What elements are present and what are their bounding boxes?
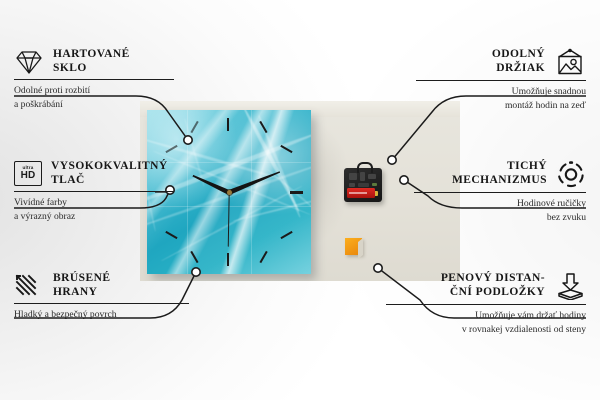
feature-title-group: BRÚSENÉ HRANY: [53, 272, 110, 299]
battery: [347, 188, 375, 198]
feature-title-group: TICHÝ MECHANIZMUS: [452, 160, 547, 187]
ultra-hd-icon: ultra HD: [14, 161, 42, 186]
ultra-hd-large-label: HD: [21, 171, 36, 181]
feature-header: ultra HD VYSOKOKVALITNÝ TLAČ: [14, 160, 174, 187]
feature-title-line2: SKLO: [53, 62, 130, 76]
brushed-edges-icon: [14, 273, 44, 299]
foam-spacer-pad: [345, 238, 362, 255]
feature-tempered-glass: HARTOVANÉ SKLO Odolné proti rozbití a po…: [14, 48, 174, 111]
feature-title-group: PENOVÝ DISTAN- ČNÍ PODLOŽKY: [441, 272, 545, 299]
feature-title-group: HARTOVANÉ SKLO: [53, 48, 130, 75]
feature-desc-line1: Hodinové ručičky: [414, 197, 586, 211]
feature-brushed-edges: BRÚSENÉ HRANY Hladký a bezpečný povrch: [14, 272, 189, 322]
feature-title-line2: HRANY: [53, 286, 110, 300]
clock-center-pin: [227, 190, 232, 195]
feature-title-line2: DRŽIAK: [492, 62, 545, 76]
feature-divider: [14, 79, 174, 80]
feature-desc-line2: a výrazný obraz: [14, 210, 174, 224]
feature-header: ODOLNÝ DRŽIAK: [416, 48, 586, 76]
feature-divider: [416, 80, 586, 81]
product-photo: [140, 101, 460, 281]
feature-desc-line2: montáž hodin na zeď: [416, 99, 586, 113]
clock-mechanism: [344, 168, 382, 202]
feature-title-line1: PENOVÝ DISTAN-: [441, 272, 545, 286]
feature-title-line2: ČNÍ PODLOŽKY: [441, 286, 545, 300]
gear-icon: [556, 160, 586, 188]
feature-divider: [386, 304, 586, 305]
feature-title-group: VYSOKOKVALITNÝ TLAČ: [51, 160, 168, 187]
feature-title-line1: VYSOKOKVALITNÝ: [51, 160, 168, 174]
wall-mount-icon: [554, 48, 586, 76]
diamond-icon: [14, 49, 44, 75]
feature-header: PENOVÝ DISTAN- ČNÍ PODLOŽKY: [386, 272, 586, 300]
feature-title-line1: ODOLNÝ: [492, 48, 545, 62]
feature-desc-line1: Umožňuje snadnou: [416, 85, 586, 99]
feature-desc-line2: v rovnakej vzdialenosti od steny: [386, 323, 586, 337]
feature-desc-line2: bez zvuku: [414, 211, 586, 225]
feature-foam-spacers: PENOVÝ DISTAN- ČNÍ PODLOŽKY Umožňuje vám…: [386, 272, 586, 336]
clock-tick: [227, 118, 229, 131]
clock-tick: [290, 191, 303, 194]
feature-desc-line1: Umožňuje vám držať hodiny: [386, 309, 586, 323]
feature-desc-line1: Vivídné farby: [14, 196, 174, 210]
infographic-stage: HARTOVANÉ SKLO Odolné proti rozbití a po…: [0, 0, 600, 400]
feature-divider: [14, 303, 189, 304]
clock-tick: [227, 253, 229, 266]
feature-header: HARTOVANÉ SKLO: [14, 48, 174, 75]
feature-durable-mount: ODOLNÝ DRŽIAK Umožňuje snadnou montáž ho…: [416, 48, 586, 112]
feature-divider: [414, 192, 586, 193]
feature-title-line2: TLAČ: [51, 174, 168, 188]
feature-header: TICHÝ MECHANIZMUS: [414, 160, 586, 188]
feature-desc-line1: Hladký a bezpečný povrch: [14, 308, 189, 322]
feature-title-line1: HARTOVANÉ: [53, 48, 130, 62]
feature-high-quality-print: ultra HD VYSOKOKVALITNÝ TLAČ Vivídné far…: [14, 160, 174, 223]
feature-title-group: ODOLNÝ DRŽIAK: [492, 48, 545, 75]
feature-desc-line2: a poškrábání: [14, 98, 174, 112]
feature-title-line2: MECHANIZMUS: [452, 174, 547, 188]
foam-spacer-icon: [554, 272, 586, 300]
feature-title-line1: TICHÝ: [452, 160, 547, 174]
battery-label: [349, 192, 367, 194]
feature-silent-mechanism: TICHÝ MECHANIZMUS Hodinové ručičky bez z…: [414, 160, 586, 224]
feature-desc-line1: Odolné proti rozbití: [14, 84, 174, 98]
feature-title-line1: BRÚSENÉ: [53, 272, 110, 286]
feature-divider: [14, 191, 174, 192]
feature-header: BRÚSENÉ HRANY: [14, 272, 189, 299]
